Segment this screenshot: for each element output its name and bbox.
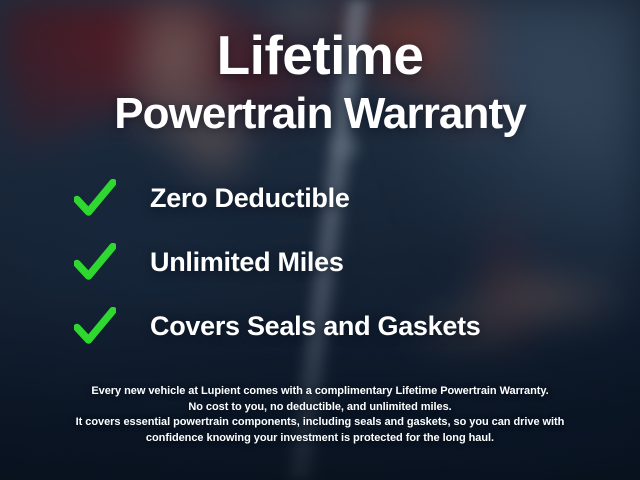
fine-print-line-3: It covers essential powertrain component… [20,415,620,431]
benefit-item-unlimited-miles: Unlimited Miles [74,230,344,294]
check-icon [74,179,116,217]
fine-print-paragraph: Every new vehicle at Lupient comes with … [20,384,620,446]
benefit-label: Covers Seals and Gaskets [150,311,481,342]
headline-line-1: Lifetime [217,28,424,83]
benefit-item-covers-seals-and-gaskets: Covers Seals and Gaskets [74,294,481,358]
benefit-list: Zero Deductible Unlimited Miles Covers S… [0,166,640,358]
banner-content: Lifetime Powertrain Warranty Zero Deduct… [0,0,640,480]
warranty-promo-banner: Lifetime Powertrain Warranty Zero Deduct… [0,0,640,480]
benefit-label: Zero Deductible [150,183,350,214]
benefit-label: Unlimited Miles [150,247,344,278]
headline-line-2: Powertrain Warranty [114,92,526,136]
benefit-item-zero-deductible: Zero Deductible [74,166,350,230]
check-icon [74,243,116,281]
fine-print-line-2: No cost to you, no deductible, and unlim… [20,400,620,416]
fine-print-line-4: confidence knowing your investment is pr… [20,431,620,447]
check-icon [74,307,116,345]
fine-print-line-1: Every new vehicle at Lupient comes with … [20,384,620,400]
